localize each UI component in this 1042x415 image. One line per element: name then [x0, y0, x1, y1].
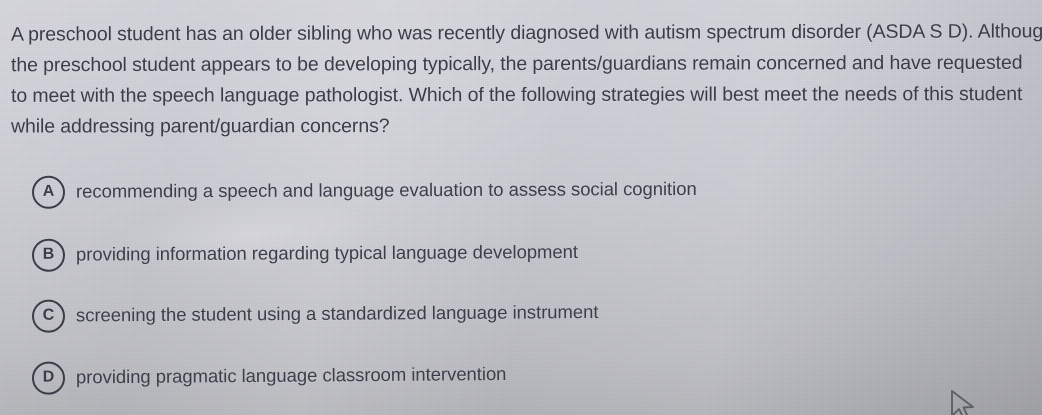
- question-stem: A preschool student has an older sibling…: [11, 18, 1035, 142]
- question-stem-line: while addressing parent/guardian concern…: [11, 110, 1035, 142]
- question-page: A preschool student has an older sibling…: [0, 0, 1042, 415]
- option-bullet-b[interactable]: B: [32, 238, 65, 271]
- option-bullet-d[interactable]: D: [32, 361, 65, 394]
- option-label-c[interactable]: screening the student using a standardiz…: [76, 301, 599, 326]
- question-stem-line: to meet with the speech language patholo…: [11, 79, 1035, 112]
- question-stem-line: A preschool student has an older sibling…: [11, 16, 1035, 50]
- option-label-a[interactable]: recommending a speech and language evalu…: [76, 178, 697, 203]
- question-stem-line: the preschool student appears to be deve…: [11, 48, 1035, 82]
- option-bullet-a[interactable]: A: [32, 175, 65, 208]
- option-bullet-c[interactable]: C: [32, 299, 65, 332]
- option-label-d[interactable]: providing pragmatic language classroom i…: [76, 363, 507, 388]
- option-label-b[interactable]: providing information regarding typical …: [76, 241, 578, 266]
